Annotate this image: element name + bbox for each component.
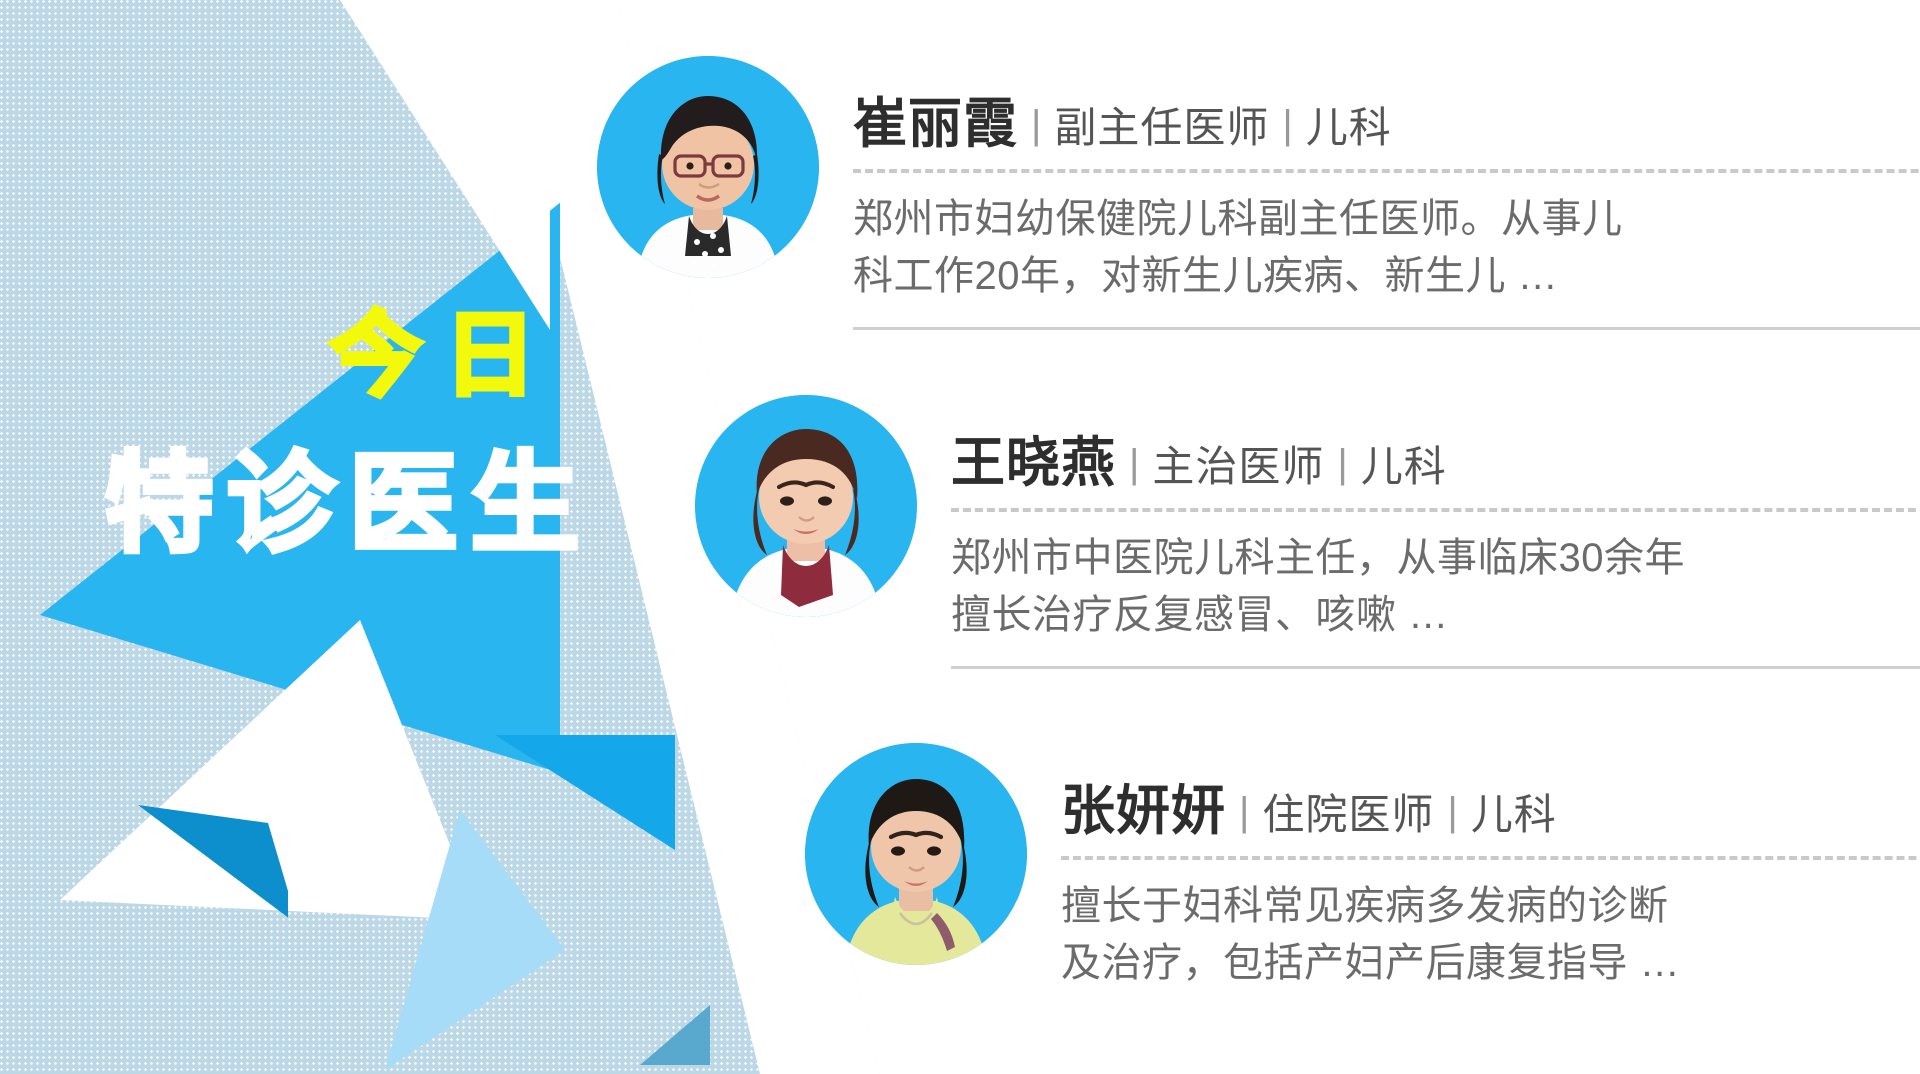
doctor-department: 儿科 xyxy=(1306,94,1392,155)
doctor-info-2: 王晓燕 | 主治医师 | 儿科 郑州市中医院儿科主任，从事临床30余年 擅长治疗… xyxy=(951,395,1920,669)
doctor-avatar-3 xyxy=(805,743,1027,965)
name-separator: | xyxy=(1239,790,1249,835)
rank-separator: | xyxy=(1282,103,1292,148)
doctor-avatar-2 xyxy=(695,395,917,617)
doctor-description-1: 郑州市妇幼保健院儿科副主任医师。从事儿 科工作20年，对新生儿疾病、新生儿 … xyxy=(853,191,1920,305)
name-separator: | xyxy=(1031,103,1041,148)
dashed-divider-2 xyxy=(951,508,1920,512)
doctor-name: 崔丽霞 xyxy=(853,96,1018,153)
doctor-rank: 住院医师 xyxy=(1262,781,1434,842)
rank-separator: | xyxy=(1337,442,1347,487)
description-line-1: 郑州市中医院儿科主任，从事临床30余年 xyxy=(951,530,1920,587)
description-line-2: 及治疗，包括产妇产后康复指导 … xyxy=(1061,935,1920,992)
card-bottom-rule-1 xyxy=(853,327,1920,330)
description-line-2: 擅长治疗反复感冒、咳嗽 … xyxy=(951,587,1920,644)
doctor-info-1: 崔丽霞 | 副主任医师 | 儿科 郑州市妇幼保健院儿科副主任医师。从事儿 科工作… xyxy=(853,56,1920,330)
doctor-name: 张妍妍 xyxy=(1061,783,1226,840)
dashed-divider-1 xyxy=(853,169,1920,173)
doctor-name: 王晓燕 xyxy=(951,435,1116,492)
name-separator: | xyxy=(1129,442,1139,487)
description-line-1: 擅长于妇科常见疾病多发病的诊断 xyxy=(1061,878,1920,935)
doctor-wang-xiaoyan-photo xyxy=(695,395,917,617)
doctor-name-line-3: 张妍妍 | 住院医师 | 儿科 xyxy=(1061,781,1920,842)
doctor-name-line-1: 崔丽霞 | 副主任医师 | 儿科 xyxy=(853,94,1920,155)
doctor-cui-lixia-photo xyxy=(597,56,819,278)
doctor-description-3: 擅长于妇科常见疾病多发病的诊断 及治疗，包括产妇产后康复指导 … xyxy=(1061,878,1920,992)
description-line-1: 郑州市妇幼保健院儿科副主任医师。从事儿 xyxy=(853,191,1920,248)
doctor-rank: 副主任医师 xyxy=(1054,94,1269,155)
doctor-name-line-2: 王晓燕 | 主治医师 | 儿科 xyxy=(951,433,1920,494)
description-line-2: 科工作20年，对新生儿疾病、新生儿 … xyxy=(853,248,1920,305)
doctor-card[interactable]: 崔丽霞 | 副主任医师 | 儿科 郑州市妇幼保健院儿科副主任医师。从事儿 科工作… xyxy=(597,56,1920,330)
card-bottom-rule-2 xyxy=(951,666,1920,669)
doctor-department: 儿科 xyxy=(1471,781,1557,842)
doctor-card[interactable]: 张妍妍 | 住院医师 | 儿科 擅长于妇科常见疾病多发病的诊断 及治疗，包括产妇… xyxy=(805,743,1920,992)
doctor-rank: 主治医师 xyxy=(1152,433,1324,494)
doctor-description-2: 郑州市中医院儿科主任，从事临床30余年 擅长治疗反复感冒、咳嗽 … xyxy=(951,530,1920,644)
doctor-zhang-yanyan-photo xyxy=(805,743,1027,965)
doctor-department: 儿科 xyxy=(1361,433,1447,494)
doctor-info-3: 张妍妍 | 住院医师 | 儿科 擅长于妇科常见疾病多发病的诊断 及治疗，包括产妇… xyxy=(1061,743,1920,992)
dashed-divider-3 xyxy=(1061,856,1920,860)
doctor-list: 崔丽霞 | 副主任医师 | 儿科 郑州市妇幼保健院儿科副主任医师。从事儿 科工作… xyxy=(0,0,1920,1074)
doctor-avatar-1 xyxy=(597,56,819,278)
doctor-card[interactable]: 王晓燕 | 主治医师 | 儿科 郑州市中医院儿科主任，从事临床30余年 擅长治疗… xyxy=(695,395,1920,669)
rank-separator: | xyxy=(1447,790,1457,835)
